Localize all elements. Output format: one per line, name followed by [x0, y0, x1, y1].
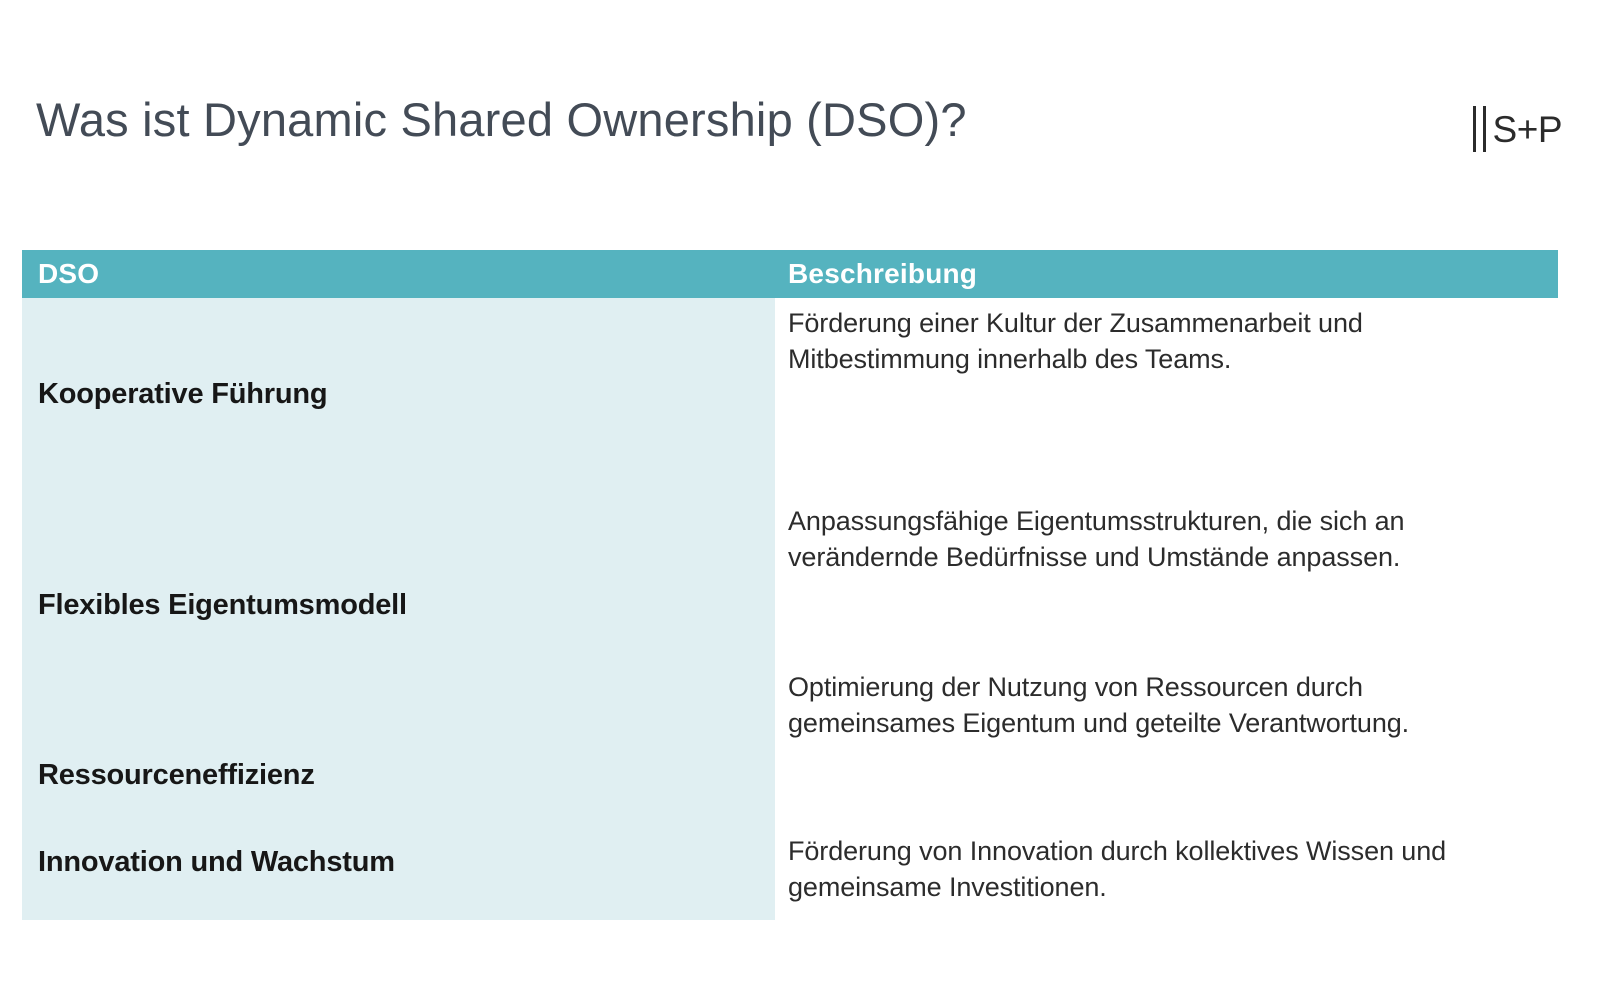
brand-logo: S+P — [1473, 102, 1562, 156]
logo-label: S+P — [1493, 111, 1562, 148]
table-body: Kooperative Führung Förderung einer Kult… — [22, 298, 1558, 978]
logo-bars-icon — [1473, 106, 1486, 152]
row-description-cell: Förderung einer Kultur der Zusammenarbei… — [775, 298, 1558, 468]
row-description-cell: Förderung von Innovation durch kollektiv… — [775, 808, 1558, 978]
table-row: Innovation und Wachstum Förderung von In… — [22, 808, 1558, 978]
row-description-cell: Optimierung der Nutzung von Ressourcen d… — [775, 638, 1558, 808]
page-title: Was ist Dynamic Shared Ownership (DSO)? — [36, 92, 967, 148]
slide-root: Was ist Dynamic Shared Ownership (DSO)? … — [0, 0, 1600, 1000]
row-term-label: Flexibles Eigentumsmodell — [38, 589, 407, 626]
row-term-cell: Kooperative Führung — [22, 298, 775, 468]
row-description-text: Anpassungsfähige Eigentumsstrukturen, di… — [788, 506, 1404, 572]
table-row: Flexibles Eigentumsmodell Anpassungsfähi… — [22, 468, 1558, 638]
row-description-text: Optimierung der Nutzung von Ressourcen d… — [788, 672, 1409, 738]
row-term-cell: Flexibles Eigentumsmodell — [22, 468, 775, 638]
row-term-cell: Innovation und Wachstum — [22, 808, 775, 978]
table-row: Ressourceneffizienz Optimierung der Nutz… — [22, 638, 1558, 808]
column-header-dso: DSO — [22, 260, 775, 288]
row-description-text: Förderung von Innovation durch kollektiv… — [788, 836, 1446, 902]
row-term-label: Innovation und Wachstum — [38, 846, 395, 883]
row-description-cell: Anpassungsfähige Eigentumsstrukturen, di… — [775, 468, 1558, 638]
table-header-row: DSO Beschreibung — [22, 250, 1558, 298]
row-description-text: Förderung einer Kultur der Zusammenarbei… — [788, 308, 1363, 374]
table-row: Kooperative Führung Förderung einer Kult… — [22, 298, 1558, 468]
row-term-label: Ressourceneffizienz — [38, 759, 315, 796]
row-term-cell: Ressourceneffizienz — [22, 638, 775, 808]
column-header-beschreibung: Beschreibung — [775, 260, 977, 288]
dso-table: DSO Beschreibung Kooperative Führung För… — [22, 250, 1558, 978]
row-term-label: Kooperative Führung — [38, 378, 327, 415]
